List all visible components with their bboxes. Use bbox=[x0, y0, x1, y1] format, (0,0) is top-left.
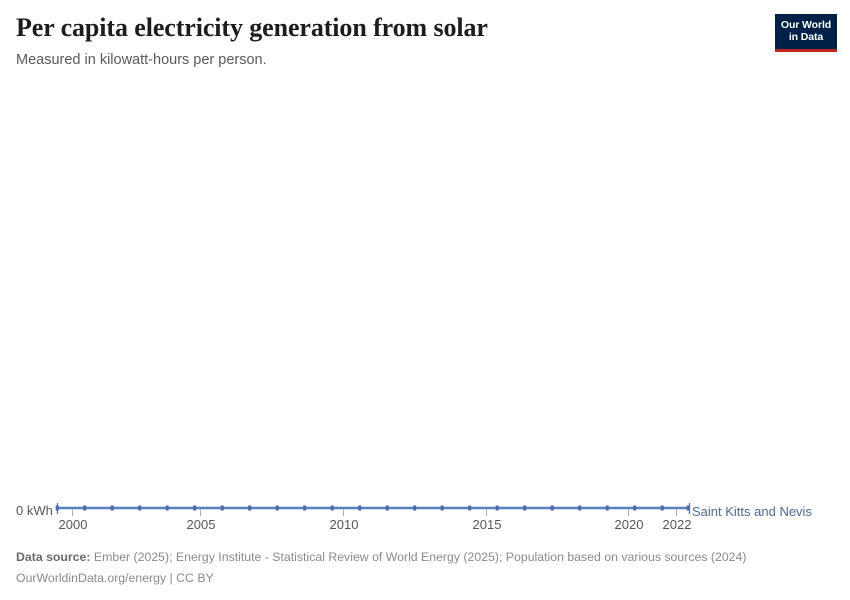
plot-area[interactable] bbox=[0, 90, 850, 535]
owid-logo-line-2: in Data bbox=[789, 31, 823, 43]
chart-subtitle: Measured in kilowatt-hours per person. bbox=[16, 51, 756, 70]
owid-logo[interactable]: Our World in Data bbox=[775, 14, 837, 52]
chart-container: Per capita electricity generation from s… bbox=[0, 0, 850, 600]
x-axis-ticks bbox=[73, 509, 677, 516]
data-source-line: Data source: Ember (2025); Energy Instit… bbox=[16, 548, 816, 566]
page-title: Per capita electricity generation from s… bbox=[16, 12, 756, 44]
y-axis-label: 0 kWh bbox=[16, 504, 53, 518]
chart-header: Per capita electricity generation from s… bbox=[16, 12, 756, 70]
data-source-prefix: Data source: bbox=[16, 550, 91, 564]
footer-link-line[interactable]: OurWorldinData.org/energy | CC BY bbox=[16, 569, 816, 587]
x-tick-label-2000: 2000 bbox=[59, 517, 88, 532]
chart-svg bbox=[0, 90, 850, 535]
chart-footer: Data source: Ember (2025); Energy Instit… bbox=[16, 548, 816, 587]
owid-logo-line-1: Our World bbox=[781, 19, 831, 31]
x-tick-label-2015: 2015 bbox=[473, 517, 502, 532]
series-label-saint-kitts-and-nevis[interactable]: Saint Kitts and Nevis bbox=[692, 504, 812, 519]
series-saint-kitts-and-nevis bbox=[56, 503, 690, 516]
x-tick-label-2022: 2022 bbox=[663, 517, 692, 532]
data-source-text: Ember (2025); Energy Institute - Statist… bbox=[91, 550, 747, 564]
x-tick-label-2020: 2020 bbox=[615, 517, 644, 532]
x-tick-label-2005: 2005 bbox=[187, 517, 216, 532]
x-tick-label-2010: 2010 bbox=[330, 517, 359, 532]
